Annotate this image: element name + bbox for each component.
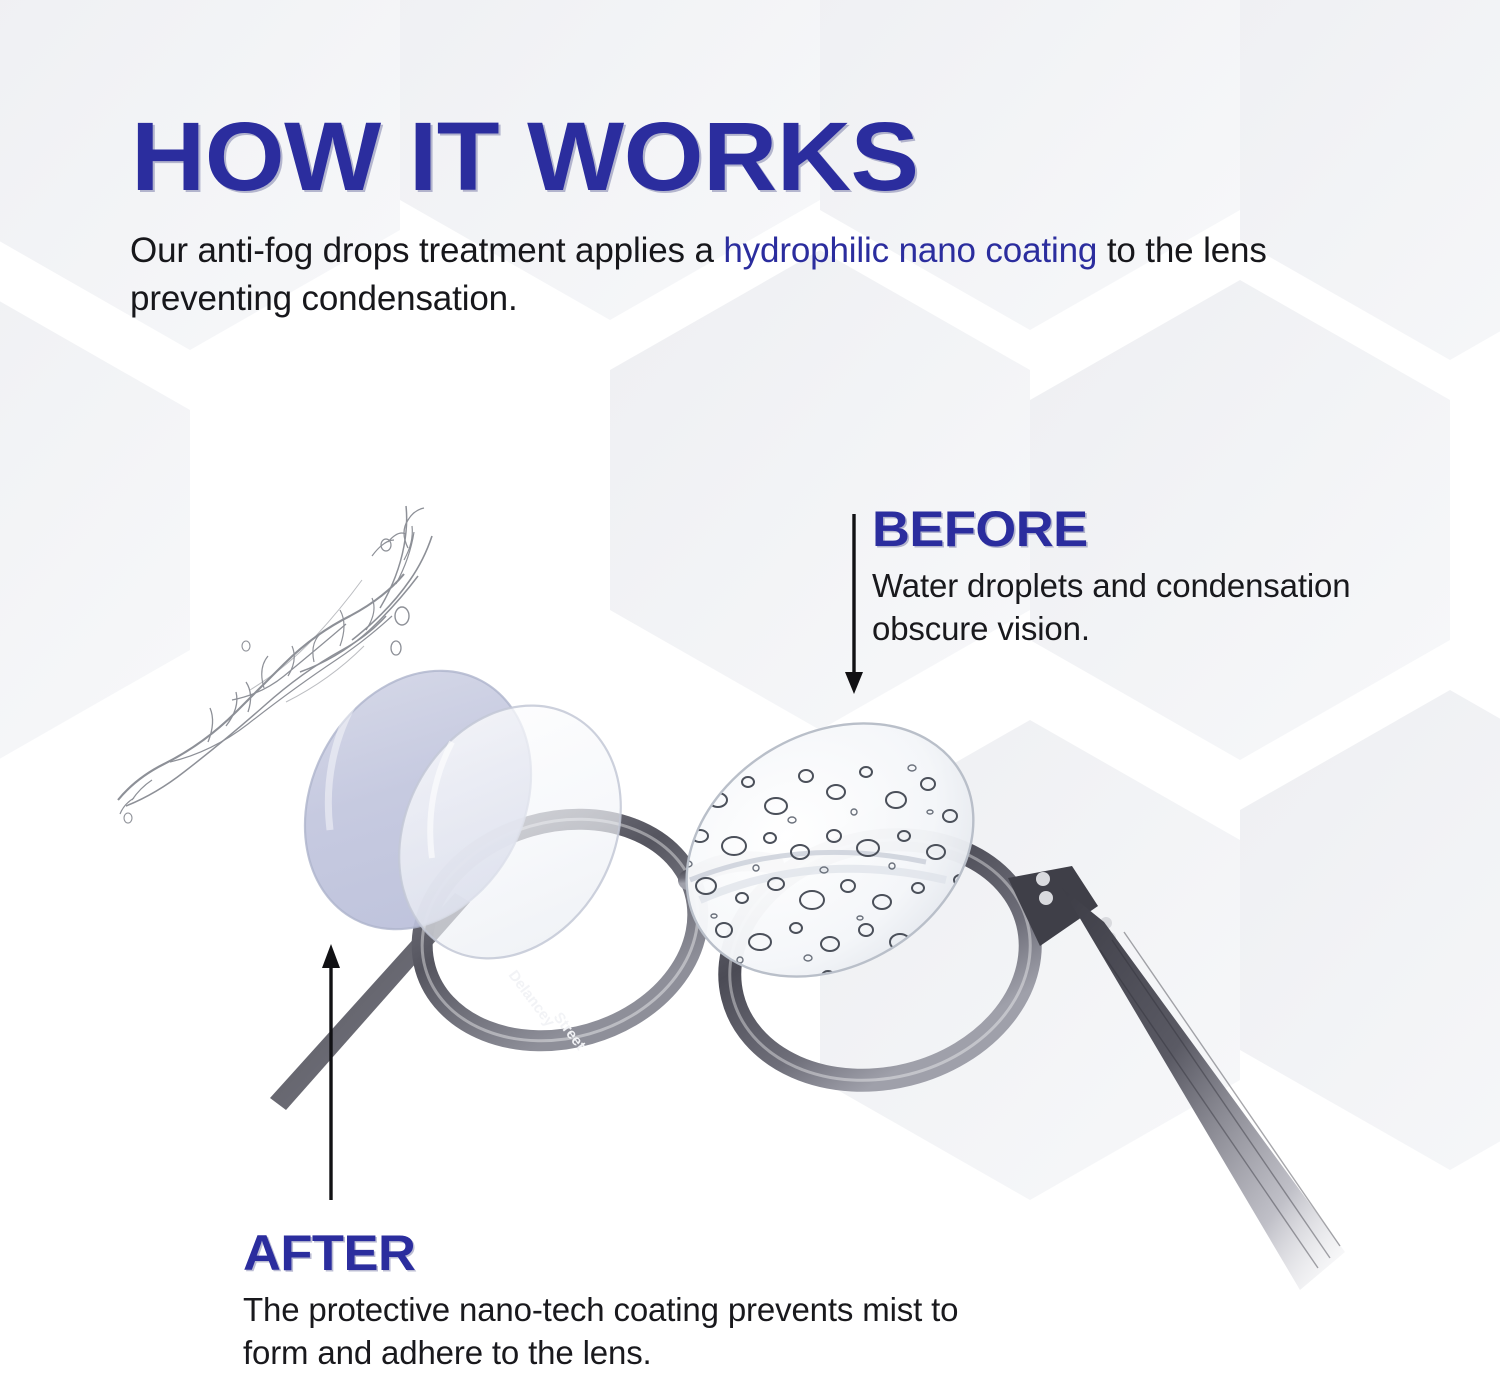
eyeglass-frame-left-rim [396, 788, 725, 1073]
temple-arm-left [270, 893, 470, 1110]
brand-text-line1: Delancey [505, 967, 559, 1030]
before-description: Water droplets and condensation obscure … [872, 565, 1472, 651]
eyeglass-frame-right-rim [704, 809, 1056, 1112]
page-title: HOW IT WORKS [131, 108, 919, 205]
temple-arm-ridges [1100, 932, 1340, 1268]
water-droplets [684, 757, 966, 997]
treated-lens-clear [356, 667, 664, 998]
untreated-lens-wet [640, 672, 1020, 1027]
infographic-canvas: HOW IT WORKS Our anti-fog drops treatmen… [0, 0, 1500, 1375]
brand-marking: Delancey Street [505, 967, 589, 1053]
water-splash-graphic [118, 506, 432, 823]
frame-hinge-endpiece [1008, 866, 1116, 946]
subtitle: Our anti-fog drops treatment applies a h… [130, 227, 1370, 322]
temple-arm-right [1062, 888, 1345, 1290]
subtitle-highlight: hydrophilic nano coating [723, 231, 1097, 270]
frame-bridge [688, 861, 774, 880]
before-title: BEFORE [872, 504, 1500, 554]
treated-lens-tinted [261, 631, 575, 969]
after-arrow-icon [316, 940, 356, 1202]
after-callout: AFTER The protective nano-tech coating p… [243, 1228, 1003, 1375]
subtitle-part1: Our anti-fog drops treatment applies a [130, 231, 723, 270]
after-title: AFTER [243, 1228, 1041, 1278]
before-callout: BEFORE Water droplets and condensation o… [872, 504, 1472, 651]
brand-text-line2: Street [550, 1009, 589, 1053]
after-description: The protective nano-tech coating prevent… [243, 1289, 1003, 1375]
